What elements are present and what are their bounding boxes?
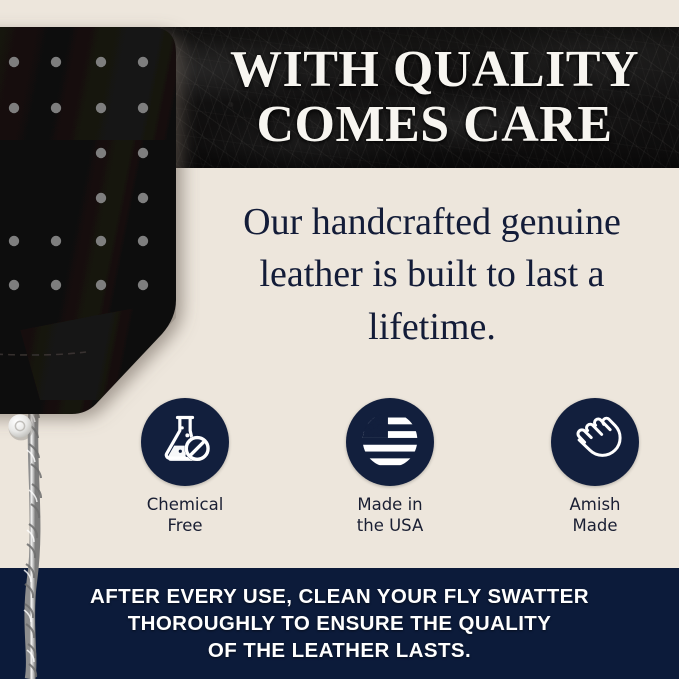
body-copy: Our handcrafted genuine leather is built… [196,196,668,353]
headline-line-1: WITH QUALITY [230,43,639,97]
product-image-fly-swatter [0,0,200,679]
wire-handle [24,400,41,679]
badge-label: Made in the USA [357,495,423,536]
page-title: WITH QUALITY COMES CARE [190,28,679,167]
headline-line-2: COMES CARE [256,98,612,152]
usa-flag-roundel-icon [357,407,423,478]
leather-paddle [0,27,176,414]
badge-circle [346,398,434,486]
badge-amish-made: Amish Made [520,398,670,536]
open-hand-icon [566,411,624,474]
product-infographic: WITH QUALITY COMES CARE Our handcrafted … [0,0,679,679]
badge-made-in-usa: Made in the USA [315,398,465,536]
badge-label: Amish Made [570,495,621,536]
badge-circle [551,398,639,486]
